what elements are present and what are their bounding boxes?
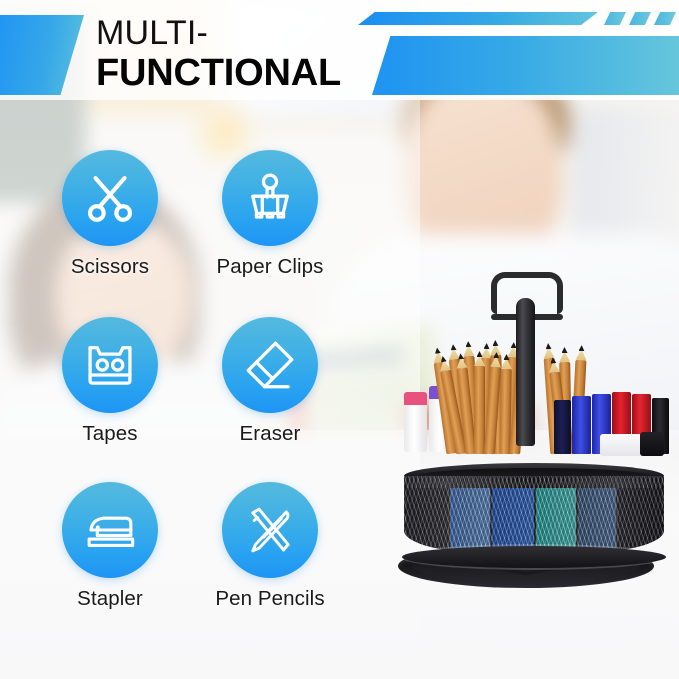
mesh-texture [404,476,664,554]
header-thin-accent-bar [358,12,598,25]
eraser-icon [241,336,299,394]
pen-pencil-cross-icon [241,501,299,559]
feature-label: Scissors [30,255,190,279]
basket-base-ring [402,546,666,568]
marker-black [554,400,571,454]
basket-body [404,476,664,554]
feature-circle [222,482,318,578]
tape-dispenser-icon [81,336,139,394]
feature-item-stapler: Stapler [30,482,190,611]
feature-label: Pen Pencils [190,587,350,611]
title-line-two: FUNCTIONAL [96,52,341,94]
title-line-one: MULTI- [96,14,341,52]
mesh-basket [404,470,664,568]
header-right-accent-bar [372,36,679,95]
feature-circle [222,317,318,413]
feature-label: Paper Clips [190,255,350,279]
feature-item-pen-pencils: Pen Pencils [190,482,350,611]
product-marketing-image: MULTI- FUNCTIONAL Scissors [0,0,679,679]
feature-circle [62,317,158,413]
product-image-desk-organizer [396,262,679,592]
header-banner: MULTI- FUNCTIONAL [0,0,679,108]
feature-label: Stapler [30,587,190,611]
scissors-icon [81,169,139,227]
marker-blue [572,396,591,454]
marker-white [404,392,427,452]
feature-circle [222,150,318,246]
page-title: MULTI- FUNCTIONAL [96,14,341,94]
binder-clip-icon [241,169,299,227]
feature-item-tapes: Tapes [30,317,190,446]
feature-label: Eraser [190,422,350,446]
stapler-icon [81,501,139,559]
pencil [474,366,485,454]
feature-grid: Scissors Paper Clips [30,150,360,650]
feature-circle [62,482,158,578]
marker-black-flat [640,432,664,456]
feature-item-paper-clips: Paper Clips [190,150,350,279]
feature-item-scissors: Scissors [30,150,190,279]
marker-cap [404,392,427,405]
supplies-group [404,340,670,475]
feature-circle [62,150,158,246]
feature-label: Tapes [30,422,190,446]
feature-item-eraser: Eraser [190,317,350,446]
center-post [516,298,535,446]
